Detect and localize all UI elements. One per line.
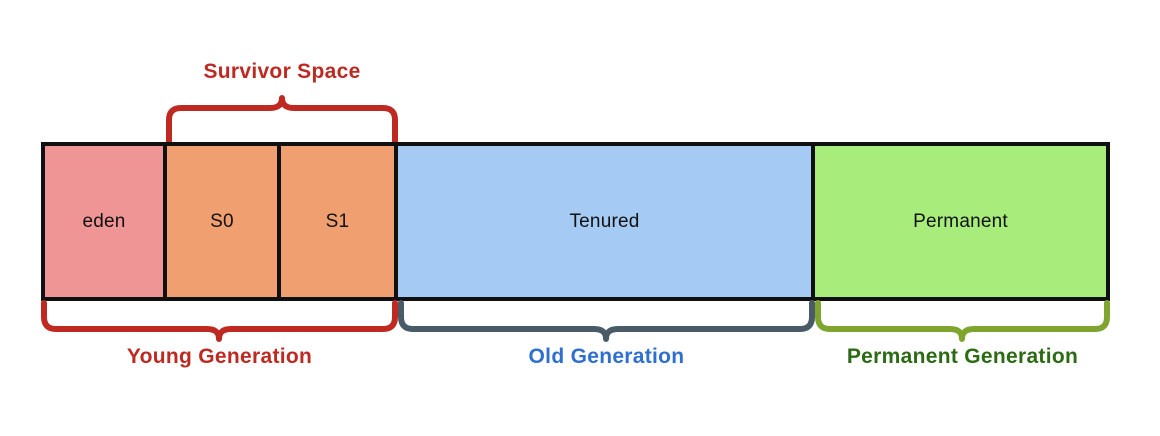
region-permanent-label: Permanent bbox=[913, 211, 1008, 233]
region-s0[interactable]: S0 bbox=[167, 146, 281, 297]
region-s1[interactable]: S1 bbox=[281, 146, 398, 297]
young-generation-brace-icon bbox=[41, 303, 398, 343]
survivor-space-brace-group: Survivor Space bbox=[166, 60, 398, 144]
survivor-space-brace-icon bbox=[166, 92, 398, 144]
region-eden-label: eden bbox=[82, 211, 125, 233]
survivor-space-label: Survivor Space bbox=[166, 60, 398, 84]
young-generation-label: Young Generation bbox=[41, 345, 398, 369]
permanent-generation-brace-group: Permanent Generation bbox=[815, 303, 1110, 381]
region-s1-label: S1 bbox=[326, 211, 350, 233]
region-s0-label: S0 bbox=[210, 211, 234, 233]
region-tenured-label: Tenured bbox=[569, 211, 639, 233]
permanent-generation-brace-icon bbox=[815, 303, 1110, 343]
young-generation-brace-group: Young Generation bbox=[41, 303, 398, 381]
region-eden[interactable]: eden bbox=[45, 146, 167, 297]
permanent-generation-label: Permanent Generation bbox=[800, 345, 1125, 369]
jvm-memory-diagram: Survivor Space eden S0 S1 Tenured Perman… bbox=[0, 0, 1160, 436]
old-generation-brace-icon bbox=[398, 303, 815, 343]
region-tenured[interactable]: Tenured bbox=[398, 146, 815, 297]
old-generation-brace-group: Old Generation bbox=[398, 303, 815, 381]
old-generation-label: Old Generation bbox=[398, 345, 815, 369]
memory-bar: eden S0 S1 Tenured Permanent bbox=[41, 142, 1110, 301]
region-permanent[interactable]: Permanent bbox=[815, 146, 1106, 297]
